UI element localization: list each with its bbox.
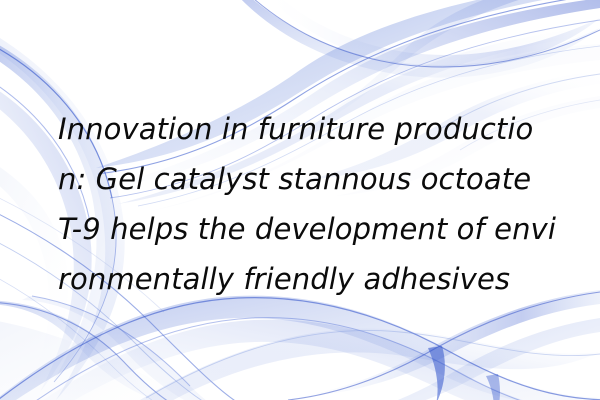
blue-ribbon-swirls-background	[0, 0, 600, 400]
banner-image: Innovation in furniture productio n: Gel…	[0, 0, 600, 400]
